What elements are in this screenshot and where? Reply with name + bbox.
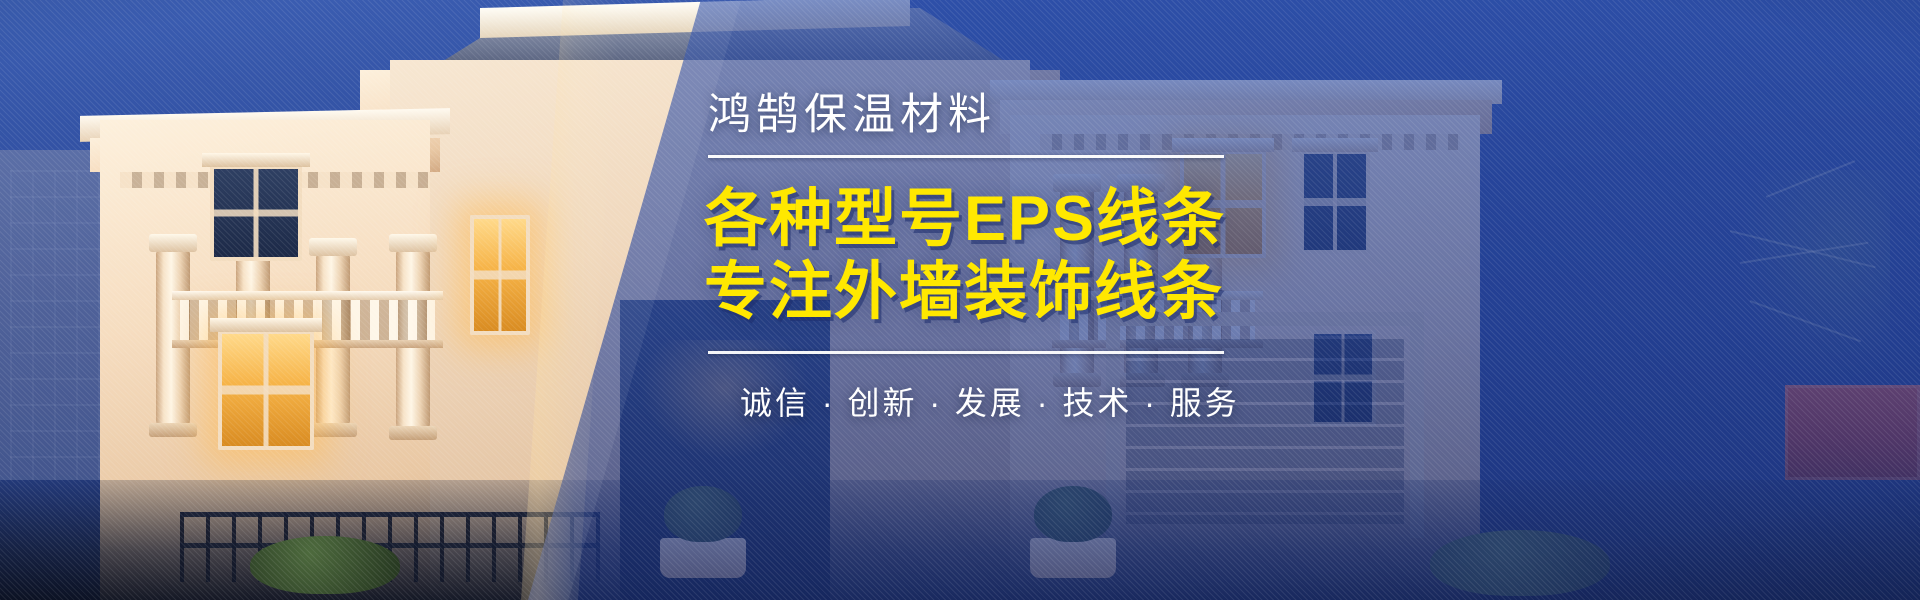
brand-divider	[708, 155, 1224, 158]
window-lit	[218, 330, 314, 450]
banner-text-block: 鸿鹄保温材料 各种型号EPS线条 专注外墙装饰线条 诚信 · 创新 · 发展 ·…	[700, 92, 1340, 424]
headline-line-1: 各种型号EPS线条	[704, 184, 1340, 255]
brand-name: 鸿鹄保温材料	[708, 92, 1340, 139]
window-lit	[470, 215, 530, 335]
tagline-divider	[708, 351, 1224, 354]
window	[210, 165, 302, 261]
shrub	[250, 536, 400, 594]
headline-line-2: 专注外墙装饰线条	[704, 257, 1340, 328]
tagline: 诚信 · 创新 · 发展 · 技术 · 服务	[740, 378, 1340, 424]
promo-banner: 鸿鹄保温材料 各种型号EPS线条 专注外墙装饰线条 诚信 · 创新 · 发展 ·…	[0, 0, 1920, 600]
